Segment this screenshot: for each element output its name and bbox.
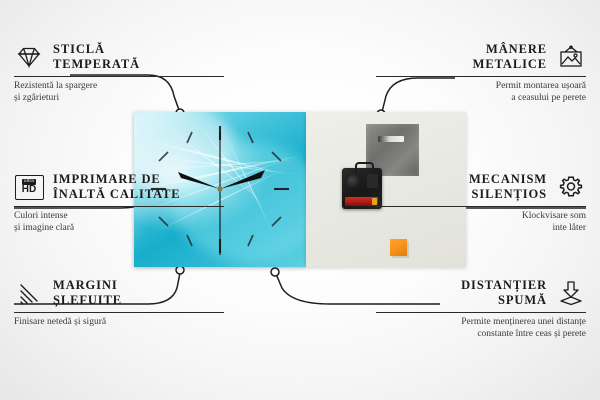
feature-title: MECANISM SILENȚIOS — [469, 172, 547, 202]
feature-description: Rezistentă la spargere și zgârieturi — [14, 80, 224, 104]
feature-polished-edges: MARGINI ȘLEFUITE Finisare netedă și sigu… — [14, 278, 224, 328]
feature-divider — [376, 206, 586, 207]
ultra-hd-icon: ultra HD — [14, 174, 44, 200]
feature-silent-mechanism: MECANISM SILENȚIOS Klockvisare som inte … — [376, 172, 586, 234]
feature-divider — [14, 76, 224, 77]
gear-icon — [556, 174, 586, 200]
feature-description: Finisare netedă și sigură — [14, 316, 224, 328]
diamond-icon — [14, 44, 44, 70]
feature-description: Klockvisare som inte låter — [376, 210, 586, 234]
feature-divider — [376, 76, 586, 77]
hanger-slot — [378, 136, 404, 142]
feature-description: Permit montarea ușoară a ceasului pe per… — [376, 80, 586, 104]
foam-spacer-pad — [390, 239, 407, 256]
feature-metal-handles: MÂNERE METALICE Permit montarea ușoară a… — [376, 42, 586, 104]
hotspot-edges — [176, 266, 184, 274]
product-infographic: STICLĂ TEMPERATĂ Rezistentă la spargere … — [0, 0, 600, 400]
feature-foam-spacer: DISTANȚIER SPUMĂ Permite menținerea unei… — [376, 278, 586, 340]
feature-high-quality-print: ultra HD IMPRIMARE DE ÎNALTĂ CALITATE Cu… — [14, 172, 224, 234]
feature-description: Culori intense și imagine clară — [14, 210, 224, 234]
feature-title: IMPRIMARE DE ÎNALTĂ CALITATE — [53, 172, 181, 202]
feature-divider — [14, 312, 224, 313]
feature-title: DISTANȚIER SPUMĂ — [461, 278, 547, 308]
feature-title: STICLĂ TEMPERATĂ — [53, 42, 140, 72]
feature-title: MARGINI ȘLEFUITE — [53, 278, 122, 308]
feature-tempered-glass: STICLĂ TEMPERATĂ Rezistentă la spargere … — [14, 42, 224, 104]
press-down-icon — [556, 280, 586, 306]
hotspot-spacer — [271, 268, 279, 276]
feature-description: Permite menținerea unei distanțe constan… — [376, 316, 586, 340]
feature-title: MÂNERE METALICE — [473, 42, 547, 72]
battery — [345, 197, 378, 206]
mechanism-hook — [355, 162, 374, 173]
wall-frame-icon — [556, 44, 586, 70]
feature-divider — [376, 312, 586, 313]
mechanism-dial — [347, 175, 361, 189]
feature-divider — [14, 206, 224, 207]
polished-edges-icon — [14, 280, 44, 306]
